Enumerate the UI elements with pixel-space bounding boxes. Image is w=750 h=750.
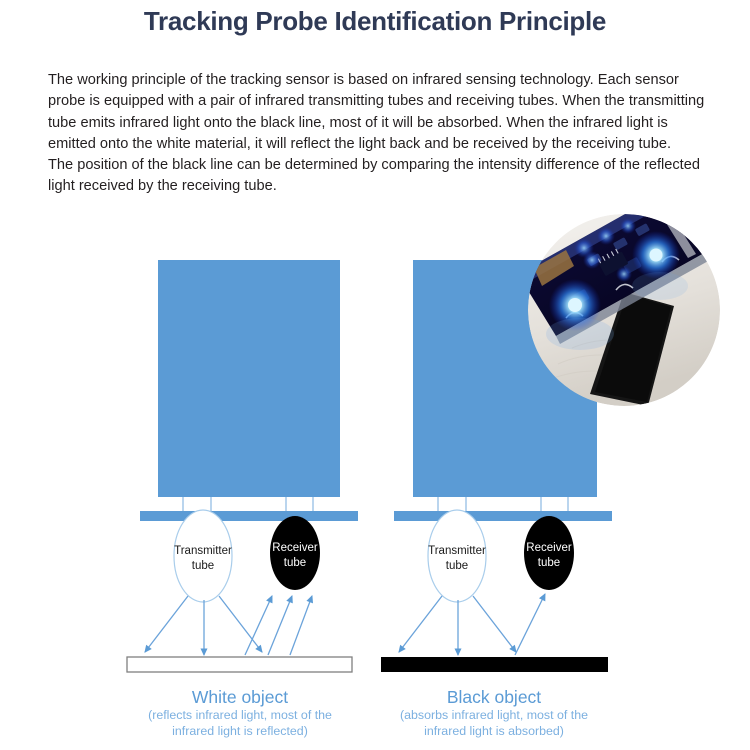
right-caption-line-2: infrared light is absorbed) [424,724,564,738]
left-panel-group: Transmitter tube Receiver tube White obj… [127,260,358,738]
left-reflected-ray-3 [290,596,312,655]
intro-text-block: The working principle of the tracking se… [48,70,708,198]
left-emitted-ray-3 [219,596,262,652]
right-emitted-ray-3 [473,596,516,652]
left-receiver-label-line2: tube [284,557,306,569]
right-caption-title: Black object [447,687,541,707]
right-emitted-ray-1 [399,596,442,652]
right-transmitter-label-line1: Transmitter [428,545,486,557]
left-probe-bar [140,511,358,521]
intro-paragraph-1: The working principle of the tracking se… [48,70,708,155]
left-caption-line-2: infrared light is reflected) [172,724,308,738]
white-object-surface [127,657,352,672]
left-transmitter-label-line2: tube [192,560,214,572]
left-reflected-ray-1 [245,596,272,655]
left-emitted-ray-1 [145,596,188,652]
right-transmitter-tube [428,510,486,602]
left-transmitter-tube [174,510,232,602]
right-receiver-label-line1: Receiver [526,542,572,554]
right-caption-line-1: (absorbs infrared light, most of the [400,708,588,722]
right-receiver-label-line2: tube [538,557,560,569]
left-reflected-rays [245,596,312,655]
sensor-photo-image [528,214,720,406]
right-receiver-tube [524,516,574,590]
right-probe-bar [394,511,612,521]
sensor-photo-inset [528,214,720,406]
page-title: Tracking Probe Identification Principle [0,6,750,37]
left-sensor-board [158,260,340,497]
left-board-legs [183,497,313,513]
black-object-surface [381,657,608,672]
right-reflected-ray-1 [515,594,545,655]
right-emitted-rays [399,596,516,655]
right-reflected-rays [515,594,545,655]
right-transmitter-label-line2: tube [446,560,468,572]
right-board-legs [438,497,568,513]
left-receiver-tube [270,516,320,590]
left-reflected-ray-2 [268,596,292,655]
intro-paragraph-2: The position of the black line can be de… [48,155,708,198]
left-caption-title: White object [192,687,288,707]
left-receiver-label-line1: Receiver [272,542,318,554]
left-emitted-rays [145,596,262,655]
left-transmitter-label-line1: Transmitter [174,545,232,557]
left-caption-line-1: (reflects infrared light, most of the [148,708,332,722]
